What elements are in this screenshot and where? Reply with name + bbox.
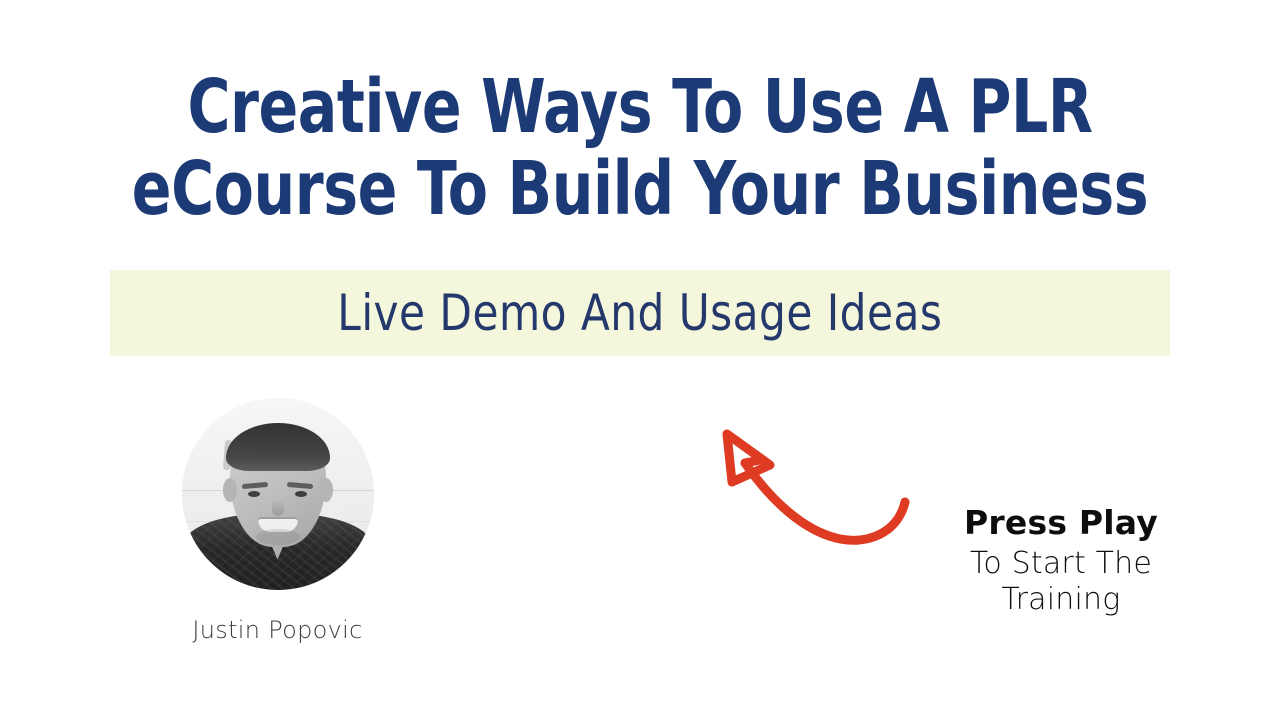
- subtitle-text: Live Demo And Usage Ideas: [337, 286, 942, 340]
- photo-eye-left: [248, 491, 260, 497]
- press-play-callout: Press Play To Start The Training: [930, 504, 1192, 618]
- presenter-block: Justin Popovic: [150, 398, 405, 644]
- curved-arrow-up-left-icon: [700, 420, 950, 560]
- photo-head: [230, 429, 326, 547]
- photo-ear-left: [223, 478, 237, 502]
- photo-eyebrow-right: [287, 482, 313, 489]
- presenter-name: Justin Popovic: [150, 616, 405, 644]
- callout-title: Press Play: [930, 504, 1192, 542]
- photo-nose: [272, 500, 284, 516]
- photo-ear-right: [319, 478, 333, 502]
- page-title: Creative Ways To Use A PLR eCourse To Bu…: [77, 66, 1203, 230]
- photo-eyebrow-left: [242, 482, 268, 489]
- presenter-photo: [182, 398, 374, 590]
- avatar: [182, 398, 374, 590]
- callout-subtitle: To Start The Training: [930, 546, 1192, 618]
- photo-eye-right: [295, 491, 307, 497]
- subtitle-band: Live Demo And Usage Ideas: [110, 270, 1170, 356]
- headline-line-2: eCourse To Build Your Business: [77, 148, 1203, 230]
- callout-sub-line-2: Training: [930, 582, 1192, 618]
- headline-line-1: Creative Ways To Use A PLR: [77, 66, 1203, 148]
- photo-chin: [256, 529, 300, 545]
- video-thumbnail-slide: Creative Ways To Use A PLR eCourse To Bu…: [0, 0, 1280, 720]
- callout-sub-line-1: To Start The: [930, 546, 1192, 582]
